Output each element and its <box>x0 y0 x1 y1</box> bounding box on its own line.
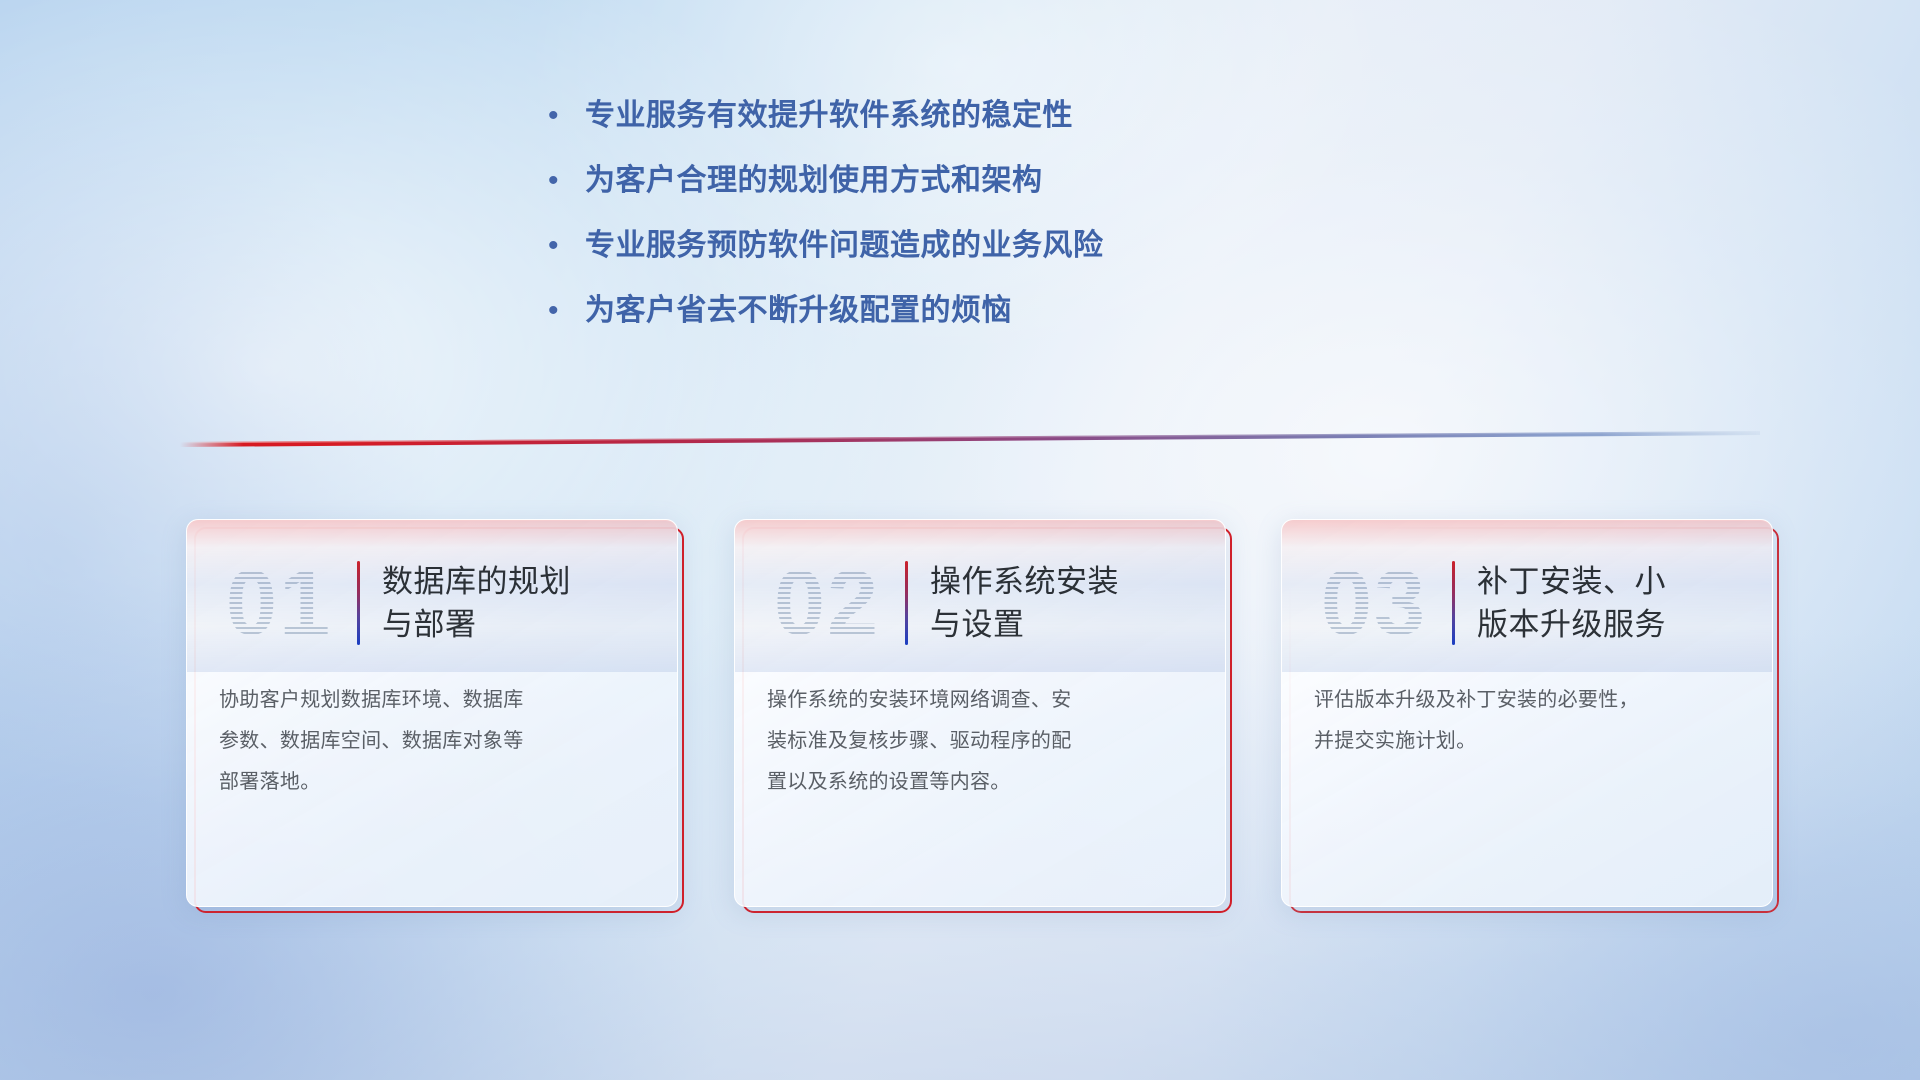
list-item: • 专业服务有效提升软件系统的稳定性 <box>545 96 1445 161</box>
card-title: 操作系统安装 与设置 <box>930 560 1199 646</box>
card-description-line: 参数、数据库空间、数据库对象等 <box>219 721 647 762</box>
card-divider-bar <box>1452 561 1455 645</box>
service-card[interactable]: 01 数据库的规划 与部署 协助客户规划数据库环境、数据库 参数、数据库空间、数… <box>186 519 678 907</box>
card-title: 数据库的规划 与部署 <box>382 560 651 646</box>
card-number: 03 <box>1306 547 1442 659</box>
bullet-text: 专业服务有效提升软件系统的稳定性 <box>585 96 1073 136</box>
card-surface: 01 数据库的规划 与部署 协助客户规划数据库环境、数据库 参数、数据库空间、数… <box>186 519 678 907</box>
card-divider-bar <box>905 561 908 645</box>
card-number: 02 <box>759 547 895 659</box>
bullet-dot-icon: • <box>545 226 585 266</box>
service-card-row: 01 数据库的规划 与部署 协助客户规划数据库环境、数据库 参数、数据库空间、数… <box>0 519 1920 919</box>
bullet-dot-icon: • <box>545 96 585 136</box>
card-description-line: 部署落地。 <box>219 762 647 803</box>
card-header: 02 操作系统安装 与设置 <box>735 520 1225 672</box>
card-title-line: 数据库的规划 <box>382 560 651 603</box>
card-description-line: 置以及系统的设置等内容。 <box>767 762 1195 803</box>
card-description: 协助客户规划数据库环境、数据库 参数、数据库空间、数据库对象等 部署落地。 <box>187 672 677 803</box>
card-surface: 03 补丁安装、小 版本升级服务 评估版本升级及补丁安装的必要性， 并提交实施计… <box>1281 519 1773 907</box>
card-description-line: 评估版本升级及补丁安装的必要性， <box>1314 680 1742 721</box>
service-card[interactable]: 02 操作系统安装 与设置 操作系统的安装环境网络调查、安 装标准及复核步骤、驱… <box>734 519 1226 907</box>
bullet-dot-icon: • <box>545 291 585 331</box>
card-header: 01 数据库的规划 与部署 <box>187 520 677 672</box>
card-title-line: 版本升级服务 <box>1477 603 1746 646</box>
card-title: 补丁安装、小 版本升级服务 <box>1477 560 1746 646</box>
card-description-line: 装标准及复核步骤、驱动程序的配 <box>767 721 1195 762</box>
card-number: 01 <box>211 547 347 659</box>
card-description-line: 操作系统的安装环境网络调查、安 <box>767 680 1195 721</box>
bullet-text: 专业服务预防软件问题造成的业务风险 <box>585 226 1104 266</box>
card-surface: 02 操作系统安装 与设置 操作系统的安装环境网络调查、安 装标准及复核步骤、驱… <box>734 519 1226 907</box>
card-description-line: 协助客户规划数据库环境、数据库 <box>219 680 647 721</box>
card-description: 操作系统的安装环境网络调查、安 装标准及复核步骤、驱动程序的配 置以及系统的设置… <box>735 672 1225 803</box>
list-item: • 专业服务预防软件问题造成的业务风险 <box>545 226 1445 291</box>
card-header: 03 补丁安装、小 版本升级服务 <box>1282 520 1772 672</box>
section-divider <box>180 420 1760 450</box>
card-description-line: 并提交实施计划。 <box>1314 721 1742 762</box>
list-item: • 为客户合理的规划使用方式和架构 <box>545 161 1445 226</box>
bullet-text: 为客户省去不断升级配置的烦恼 <box>585 291 1012 331</box>
card-description: 评估版本升级及补丁安装的必要性， 并提交实施计划。 <box>1282 672 1772 762</box>
card-title-line: 与部署 <box>382 603 651 646</box>
bullet-text: 为客户合理的规划使用方式和架构 <box>585 161 1043 201</box>
divider-wedge-icon <box>180 420 1760 450</box>
card-title-line: 与设置 <box>930 603 1199 646</box>
card-divider-bar <box>357 561 360 645</box>
bullet-dot-icon: • <box>545 161 585 201</box>
benefit-bullet-list: • 专业服务有效提升软件系统的稳定性 • 为客户合理的规划使用方式和架构 • 专… <box>545 96 1445 356</box>
list-item: • 为客户省去不断升级配置的烦恼 <box>545 291 1445 356</box>
service-card[interactable]: 03 补丁安装、小 版本升级服务 评估版本升级及补丁安装的必要性， 并提交实施计… <box>1281 519 1773 907</box>
card-title-line: 操作系统安装 <box>930 560 1199 603</box>
card-title-line: 补丁安装、小 <box>1477 560 1746 603</box>
